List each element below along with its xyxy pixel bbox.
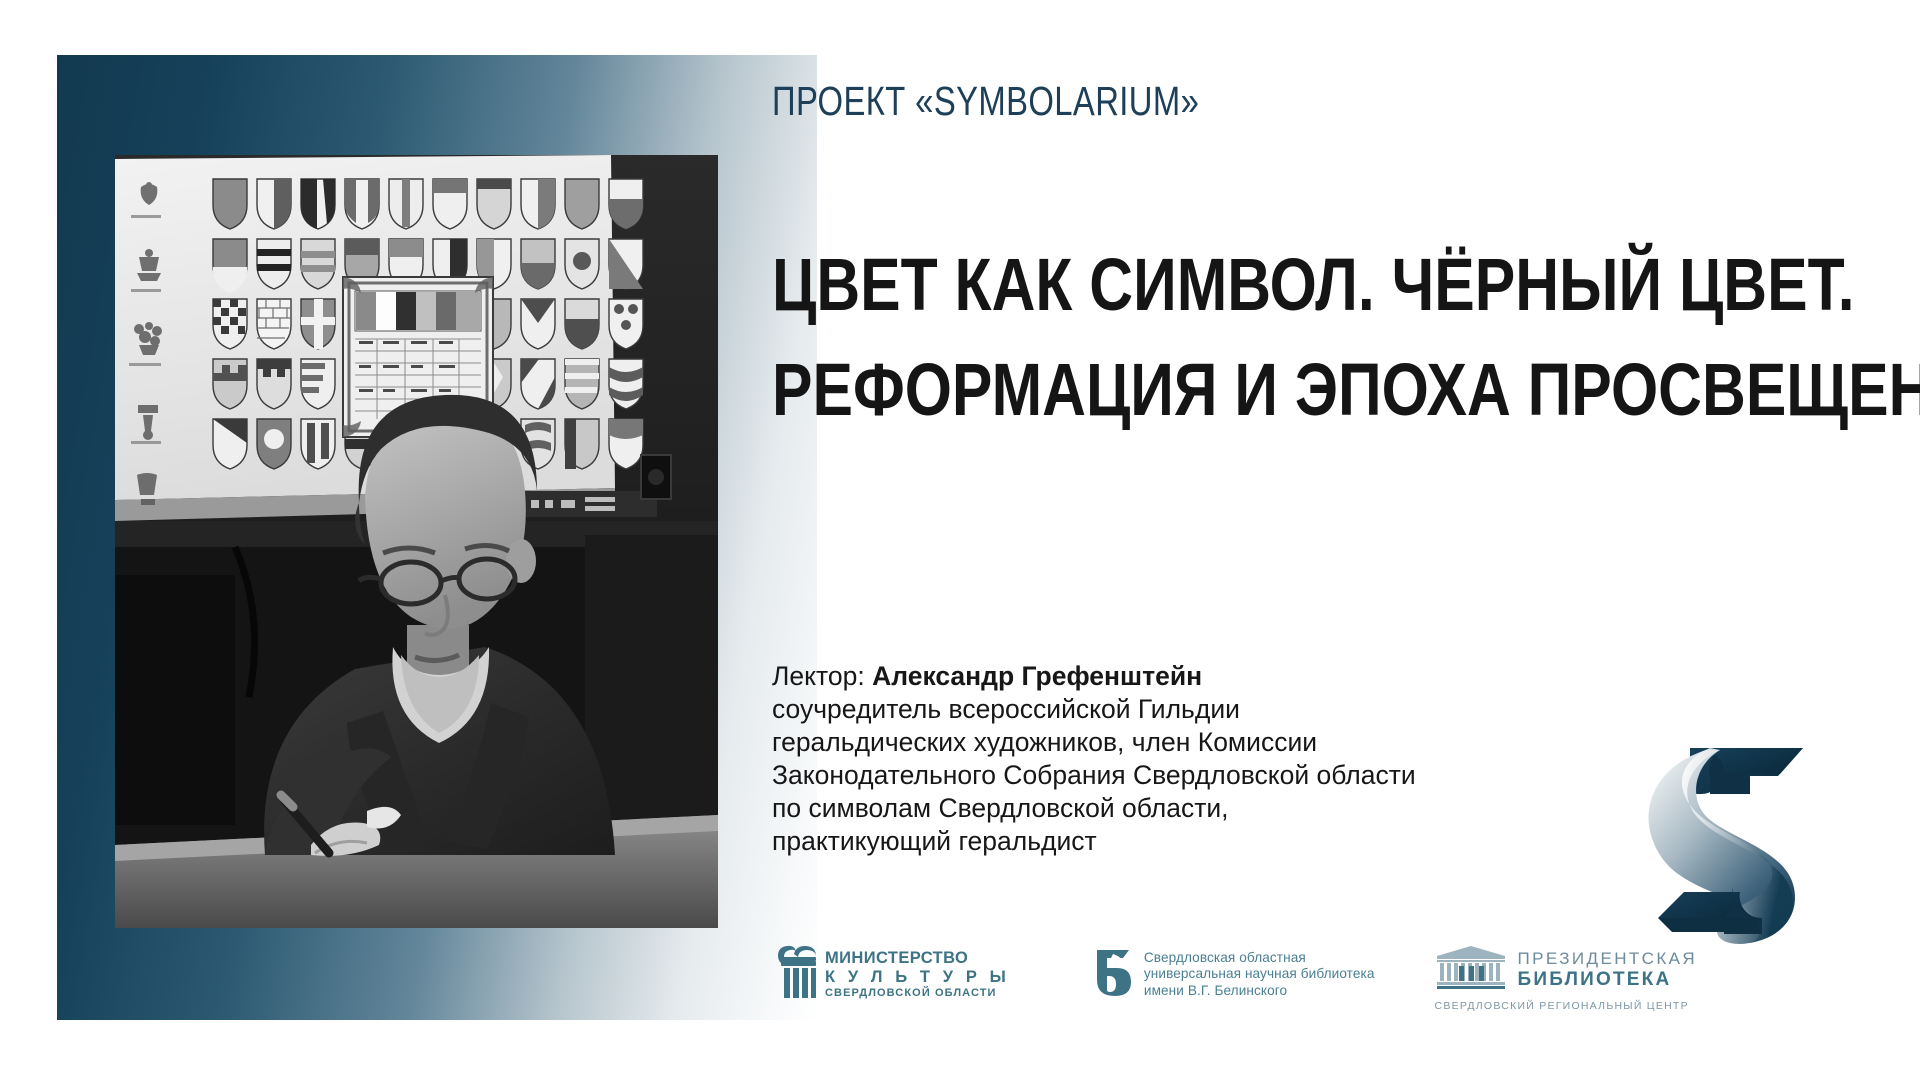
title-line-2: РЕФОРМАЦИЯ И ЭПОХА ПРОСВЕЩЕНИЯ	[772, 337, 1854, 442]
lecturer-name: Александр Грефенштейн	[872, 661, 1202, 691]
symbolarium-s-logo	[1628, 722, 1833, 944]
logo-line: МИНИСТЕРСТВО	[825, 949, 1010, 968]
building-icon	[1435, 944, 1509, 997]
logo-line: СВЕРДЛОВСКОЙ ОБЛАСТИ	[825, 987, 1010, 1000]
logo-line: СВЕРДЛОВСКИЙ РЕГИОНАЛЬНЫЙ ЦЕНТР	[1435, 1000, 1698, 1012]
lecturer-bio-line: соучредитель всероссийской Гильдии	[772, 693, 1602, 726]
lecturer-block: Лектор: Александр Грефенштейн соучредите…	[772, 660, 1602, 858]
lecturer-bio-line: геральдических художников, член Комиссии	[772, 726, 1602, 759]
wall-socket	[641, 455, 671, 499]
logo-presidential-library: ПРЕЗИДЕНТСКАЯ БИБЛИОТЕКА СВЕРДЛОВСКИЙ РЕ…	[1435, 944, 1698, 1012]
logo-line: имени В.Г. Белинского	[1144, 983, 1375, 999]
lecturer-bio-line: практикующий геральдист	[772, 825, 1602, 858]
lecturer-lead-label: Лектор:	[772, 661, 865, 691]
column-icon	[772, 944, 818, 1005]
project-label: ПРОЕКТ «SYMBOLARIUM»	[772, 78, 1199, 125]
logo-presidential-text: ПРЕЗИДЕНТСКАЯ БИБЛИОТЕКА	[1518, 949, 1698, 991]
logo-line: ПРЕЗИДЕНТСКАЯ	[1518, 949, 1698, 969]
lecturer-bio-line: по символам Свердловской области,	[772, 792, 1602, 825]
logo-line: Свердловская областная	[1144, 950, 1375, 966]
logo-line: К У Л Ь Т У Р Ы	[825, 968, 1010, 987]
logo-ministry-of-culture: МИНИСТЕРСТВО К У Л Ь Т У Р Ы СВЕРДЛОВСКО…	[772, 944, 1010, 1005]
lecturer-bio-line: Законодательного Собрания Свердловской о…	[772, 759, 1602, 792]
title-line-1: ЦВЕТ КАК СИМВОЛ. ЧЁРНЫЙ ЦВЕТ.	[772, 232, 1854, 337]
logo-line: БИБЛИОТЕКА	[1518, 969, 1698, 991]
logo-line: универсальная научная библиотека	[1144, 966, 1375, 982]
lecturer-photo	[115, 155, 718, 928]
lecturer-name-line: Лектор: Александр Грефенштейн	[772, 660, 1602, 693]
partner-logos: МИНИСТЕРСТВО К У Л Ь Т У Р Ы СВЕРДЛОВСКО…	[772, 944, 1697, 1012]
logo-belinsky-library: Свердловская областная универсальная нау…	[1089, 944, 1375, 1005]
photo-illustration	[115, 155, 718, 928]
page-title: ЦВЕТ КАК СИМВОЛ. ЧЁРНЫЙ ЦВЕТ. РЕФОРМАЦИЯ…	[772, 232, 1854, 442]
logo-ministry-text: МИНИСТЕРСТВО К У Л Ь Т У Р Ы СВЕРДЛОВСКО…	[825, 949, 1010, 1001]
letter-b-icon	[1089, 944, 1137, 1005]
logo-belinsky-text: Свердловская областная универсальная нау…	[1144, 950, 1375, 998]
